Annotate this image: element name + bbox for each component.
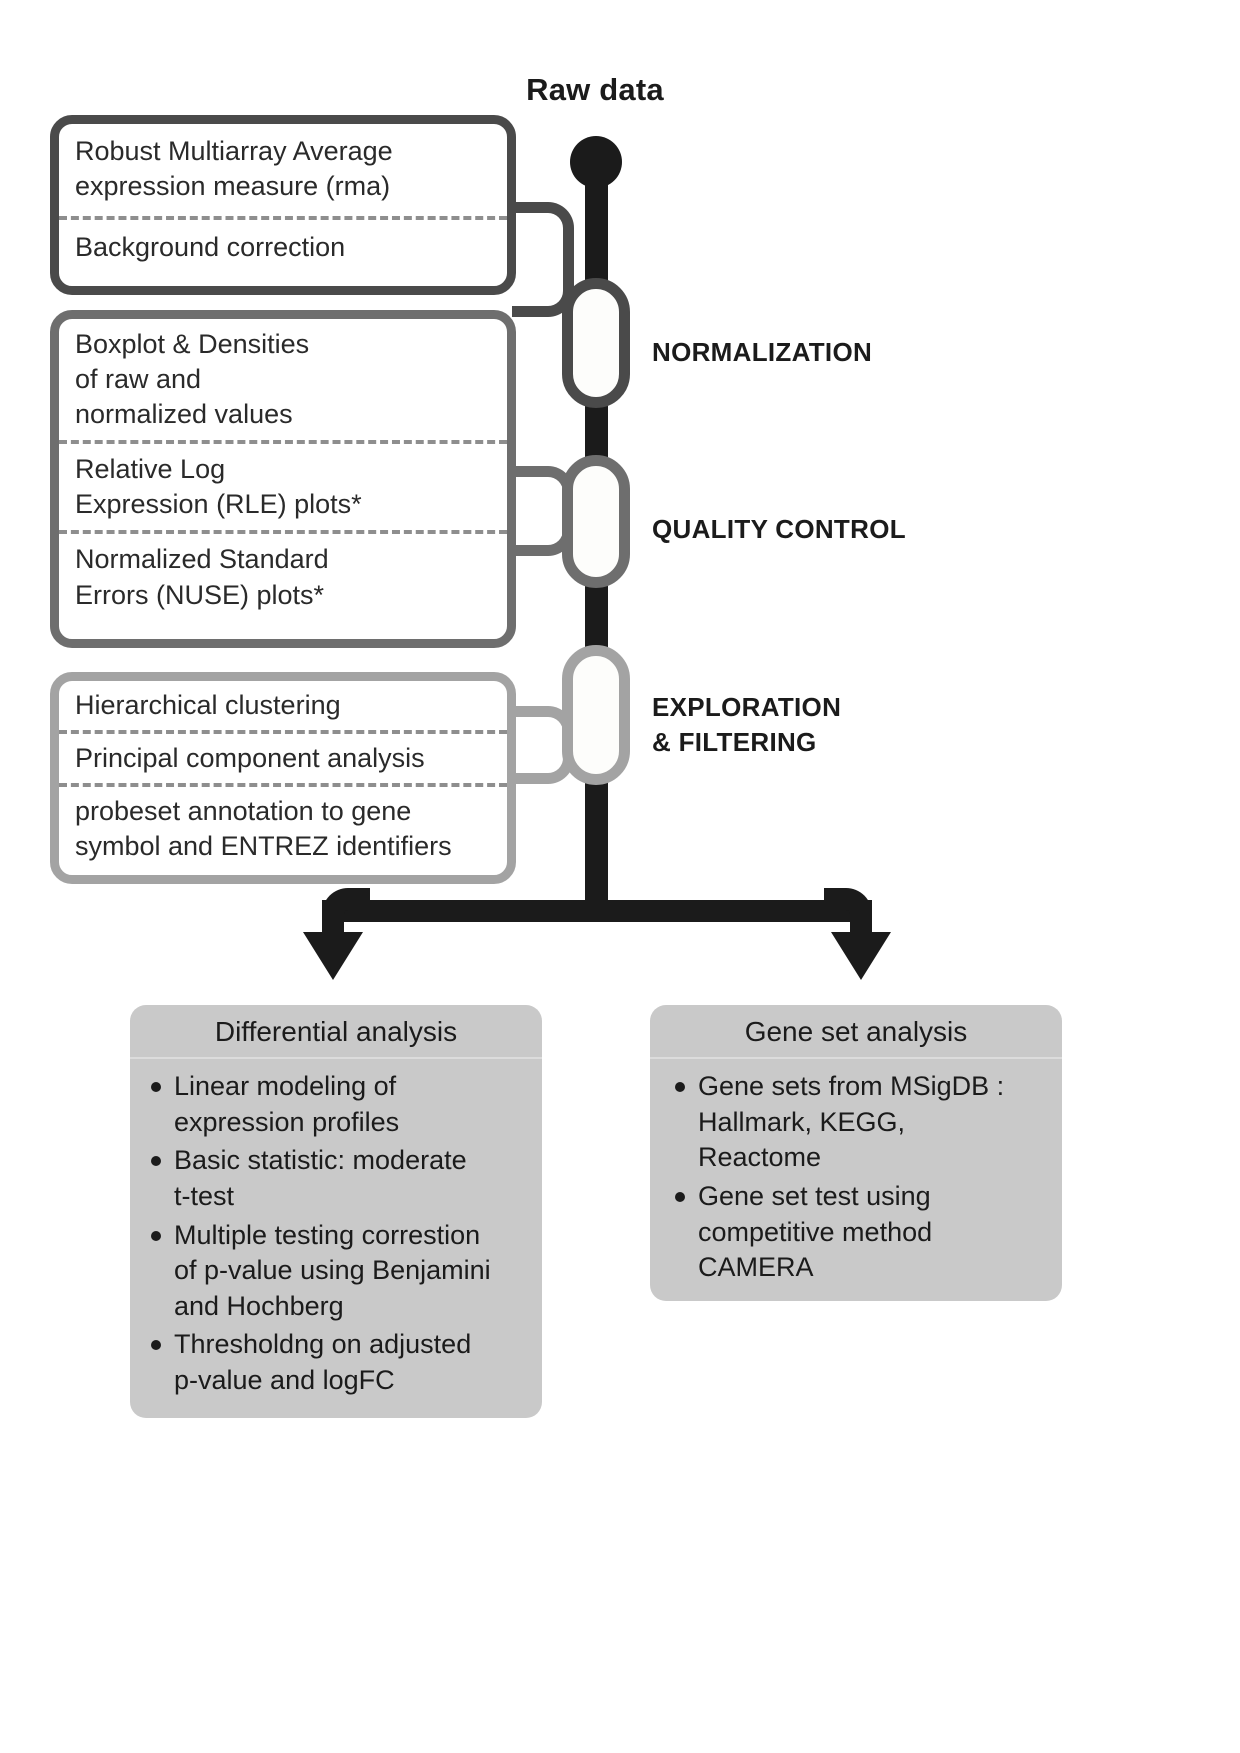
panel-title: Gene set analysis (650, 1005, 1062, 1059)
bullet-icon (151, 1231, 161, 1241)
list-item: Gene set test using competitive method C… (698, 1179, 1048, 1286)
stage-capsule-quality-control (562, 455, 630, 588)
list-item-label: Thresholdng on adjusted p-value and logF… (174, 1329, 471, 1395)
list-item: Gene sets from MSigDB : Hallmark, KEGG, … (698, 1069, 1048, 1176)
arrow-down-icon (831, 932, 891, 980)
list-item: Basic statistic: moderate t-test (174, 1143, 528, 1214)
panel-gene-set-analysis: Gene set analysis Gene sets from MSigDB … (650, 1005, 1062, 1301)
stage-capsule-normalization (562, 278, 630, 408)
stage-box-exploration: Hierarchical clustering Principal compon… (50, 672, 516, 884)
stage-label-quality-control: QUALITY CONTROL (652, 512, 906, 547)
stage-box-quality-control: Boxplot & Densities of raw and normalize… (50, 310, 516, 648)
arrow-down-icon (303, 932, 363, 980)
stage-item: probeset annotation to gene symbol and E… (59, 783, 507, 871)
list-item: Linear modeling of expression profiles (174, 1069, 528, 1140)
stage-label-exploration: EXPLORATION & FILTERING (652, 690, 841, 760)
fork-connector (332, 900, 862, 922)
list-item: Thresholdng on adjusted p-value and logF… (174, 1327, 528, 1398)
stage-item: Background correction (59, 216, 507, 277)
panel-differential-analysis: Differential analysis Linear modeling of… (130, 1005, 542, 1418)
list-item-label: Basic statistic: moderate t-test (174, 1145, 467, 1211)
list-item-label: Linear modeling of expression profiles (174, 1071, 399, 1137)
stage-item: Boxplot & Densities of raw and normalize… (59, 319, 507, 440)
stage-box-normalization: Robust Multiarray Average expression mea… (50, 115, 516, 295)
bullet-icon (151, 1082, 161, 1092)
stage-label-normalization: NORMALIZATION (652, 335, 872, 370)
stage-item: Relative Log Expression (RLE) plots* (59, 440, 507, 530)
list-item-label: Gene sets from MSigDB : Hallmark, KEGG, … (698, 1071, 1004, 1172)
bullet-icon (151, 1156, 161, 1166)
bullet-icon (675, 1082, 685, 1092)
list-item-label: Multiple testing correstion of p-value u… (174, 1220, 491, 1321)
stage-item: Hierarchical clustering (59, 681, 507, 730)
panel-title: Differential analysis (130, 1005, 542, 1059)
stage-capsule-exploration (562, 645, 630, 785)
stage-item: Principal component analysis (59, 730, 507, 783)
stage-item: Robust Multiarray Average expression mea… (59, 124, 507, 216)
panel-bullet-list: Gene sets from MSigDB : Hallmark, KEGG, … (650, 1059, 1062, 1299)
stage-item: Normalized Standard Errors (NUSE) plots* (59, 530, 507, 620)
list-item: Multiple testing correstion of p-value u… (174, 1218, 528, 1325)
bullet-icon (675, 1192, 685, 1202)
page-title: Raw data (470, 72, 720, 108)
bullet-icon (151, 1340, 161, 1350)
panel-bullet-list: Linear modeling of expression profiles B… (130, 1059, 542, 1412)
list-item-label: Gene set test using competitive method C… (698, 1181, 932, 1282)
